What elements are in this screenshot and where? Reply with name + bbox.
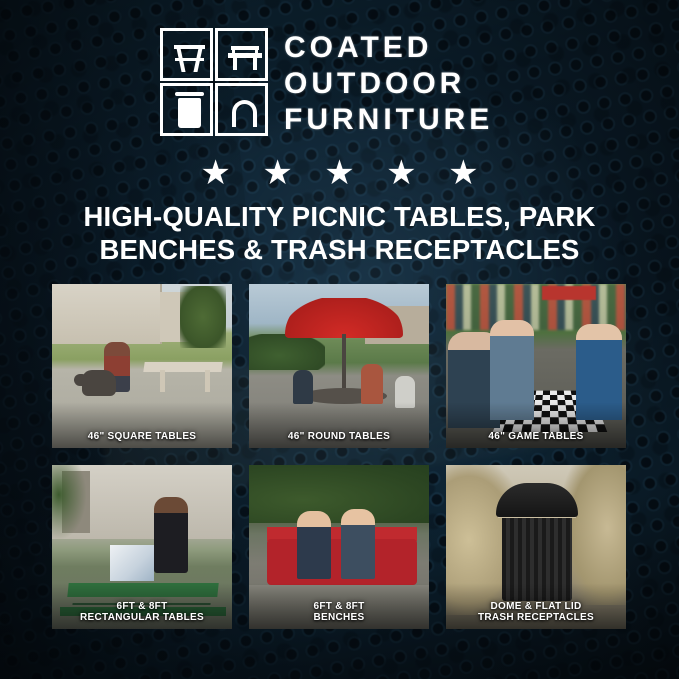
- brand-wordmark-line-1: COATED: [284, 30, 493, 66]
- arched-receptacle-icon: [215, 83, 268, 136]
- brand-wordmark-line-2: OUTDOOR: [284, 66, 493, 102]
- gallery-tile-benches[interactable]: 6FT & 8FT BENCHES: [249, 465, 429, 629]
- park-bench-icon: [215, 28, 268, 81]
- brand-wordmark-line-3: FURNITURE: [284, 102, 493, 138]
- trash-receptacle-icon: [160, 83, 213, 136]
- logo-icon-grid: [158, 26, 270, 138]
- picnic-table-icon: [160, 28, 213, 81]
- gallery-caption: 46" GAME TABLES: [446, 428, 626, 448]
- headline: HIGH-QUALITY PICNIC TABLES, PARK BENCHES…: [26, 200, 653, 266]
- star-rating: ★ ★ ★ ★ ★: [0, 156, 679, 190]
- gallery-tile-trash-receptacles[interactable]: DOME & FLAT LID TRASH RECEPTACLES: [446, 465, 626, 629]
- gallery-tile-square-tables[interactable]: 46" SQUARE TABLES: [52, 284, 232, 448]
- headline-line-2: BENCHES & TRASH RECEPTACLES: [26, 233, 653, 266]
- gallery-caption: 6FT & 8FT BENCHES: [249, 598, 429, 629]
- gallery-caption: 46" SQUARE TABLES: [52, 428, 232, 448]
- gallery-tile-round-tables[interactable]: 46" ROUND TABLES: [249, 284, 429, 448]
- product-banner-image: COATED OUTDOOR FURNITURE ★ ★ ★ ★ ★ HIGH-…: [0, 0, 679, 679]
- product-gallery: 46" SQUARE TABLES 46" ROUND TABLES: [52, 284, 627, 629]
- gallery-tile-game-tables[interactable]: 46" GAME TABLES: [446, 284, 626, 448]
- gallery-tile-rectangular-tables[interactable]: 6FT & 8FT RECTANGULAR TABLES: [52, 465, 232, 629]
- gallery-caption: DOME & FLAT LID TRASH RECEPTACLES: [446, 598, 626, 629]
- headline-line-1: HIGH-QUALITY PICNIC TABLES, PARK: [26, 200, 653, 233]
- brand-wordmark: COATED OUTDOOR FURNITURE: [284, 26, 493, 138]
- brand-logo: COATED OUTDOOR FURNITURE: [158, 26, 528, 144]
- gallery-caption: 46" ROUND TABLES: [249, 428, 429, 448]
- gallery-caption: 6FT & 8FT RECTANGULAR TABLES: [52, 598, 232, 629]
